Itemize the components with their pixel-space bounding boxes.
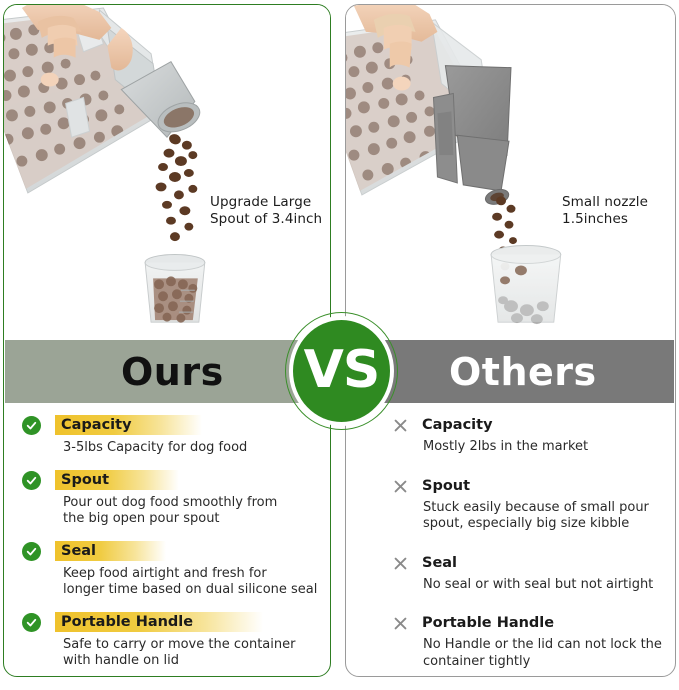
check-circle-icon	[22, 542, 41, 561]
cross-icon	[392, 478, 409, 495]
ours-feature-spout-desc: Pour out dog food smoothly from the big …	[63, 495, 322, 528]
others-feature-seal-head: Seal	[422, 553, 670, 573]
ours-feature-portable-handle-title: Portable Handle	[55, 612, 263, 632]
others-product-photo: Small nozzle 1.5inches	[346, 5, 675, 341]
others-feature-spout-head: Spout	[422, 476, 670, 496]
others-container-illustration	[346, 5, 675, 341]
ours-feature-capacity-title: Capacity	[55, 415, 202, 435]
ours-feature-seal-head: Seal	[55, 541, 322, 561]
others-feature-portable-handle-desc: No Handle or the lid can not lock the co…	[423, 637, 670, 670]
others-feature-capacity: Capacity Mostly 2lbs in the market	[390, 415, 670, 456]
others-feature-spout-desc: Stuck easily because of small pour spout…	[423, 500, 670, 533]
cross-icon	[392, 417, 409, 434]
comparison-infographic: Upgrade Large Spout of 3.4inch	[0, 0, 679, 683]
others-feature-portable-handle: Portable Handle No Handle or the lid can…	[390, 613, 670, 670]
ours-product-photo: Upgrade Large Spout of 3.4inch	[4, 5, 330, 341]
ours-feature-seal: Seal Keep food airtight and fresh for lo…	[22, 541, 322, 599]
ours-feature-portable-handle-desc: Safe to carry or move the container with…	[63, 637, 322, 670]
others-banner-label: Others	[449, 350, 597, 394]
others-feature-capacity-head: Capacity	[422, 415, 670, 435]
ours-feature-portable-handle-head: Portable Handle	[55, 612, 322, 632]
ours-feature-capacity-head: Capacity	[55, 415, 322, 435]
vs-label: VS	[304, 344, 380, 396]
check-circle-icon	[22, 613, 41, 632]
others-feature-seal-title: Seal	[422, 553, 457, 573]
ours-feature-spout-title: Spout	[55, 470, 179, 490]
cross-icon	[392, 555, 409, 572]
others-feature-spout: Spout Stuck easily because of small pour…	[390, 476, 670, 533]
ours-banner-label: Ours	[121, 350, 224, 394]
ours-container-illustration	[4, 5, 330, 341]
others-feature-portable-handle-title: Portable Handle	[422, 613, 554, 633]
vs-badge: VS	[285, 312, 398, 430]
ours-feature-seal-desc: Keep food airtight and fresh for longer …	[63, 566, 322, 599]
vs-circle: VS	[293, 320, 390, 422]
ours-photo-caption: Upgrade Large Spout of 3.4inch	[210, 194, 322, 228]
check-circle-icon	[22, 471, 41, 490]
ours-feature-capacity-desc: 3-5lbs Capacity for dog food	[63, 440, 322, 457]
ours-feature-portable-handle: Portable Handle Safe to carry or move th…	[22, 612, 322, 670]
others-photo-caption: Small nozzle 1.5inches	[562, 194, 648, 228]
ours-feature-spout-head: Spout	[55, 470, 322, 490]
others-feature-capacity-desc: Mostly 2lbs in the market	[423, 439, 670, 456]
cross-icon	[392, 615, 409, 632]
ours-feature-list: Capacity 3-5lbs Capacity for dog food Sp…	[22, 415, 322, 683]
others-feature-capacity-title: Capacity	[422, 415, 493, 435]
others-feature-list: Capacity Mostly 2lbs in the market Spout…	[390, 415, 670, 690]
others-feature-portable-handle-head: Portable Handle	[422, 613, 670, 633]
check-circle-icon	[22, 416, 41, 435]
others-feature-spout-title: Spout	[422, 476, 470, 496]
ours-feature-capacity: Capacity 3-5lbs Capacity for dog food	[22, 415, 322, 457]
others-feature-seal-desc: No seal or with seal but not airtight	[423, 577, 670, 594]
others-feature-seal: Seal No seal or with seal but not airtig…	[390, 553, 670, 594]
ours-feature-seal-title: Seal	[55, 541, 166, 561]
ours-feature-spout: Spout Pour out dog food smoothly from th…	[22, 470, 322, 528]
